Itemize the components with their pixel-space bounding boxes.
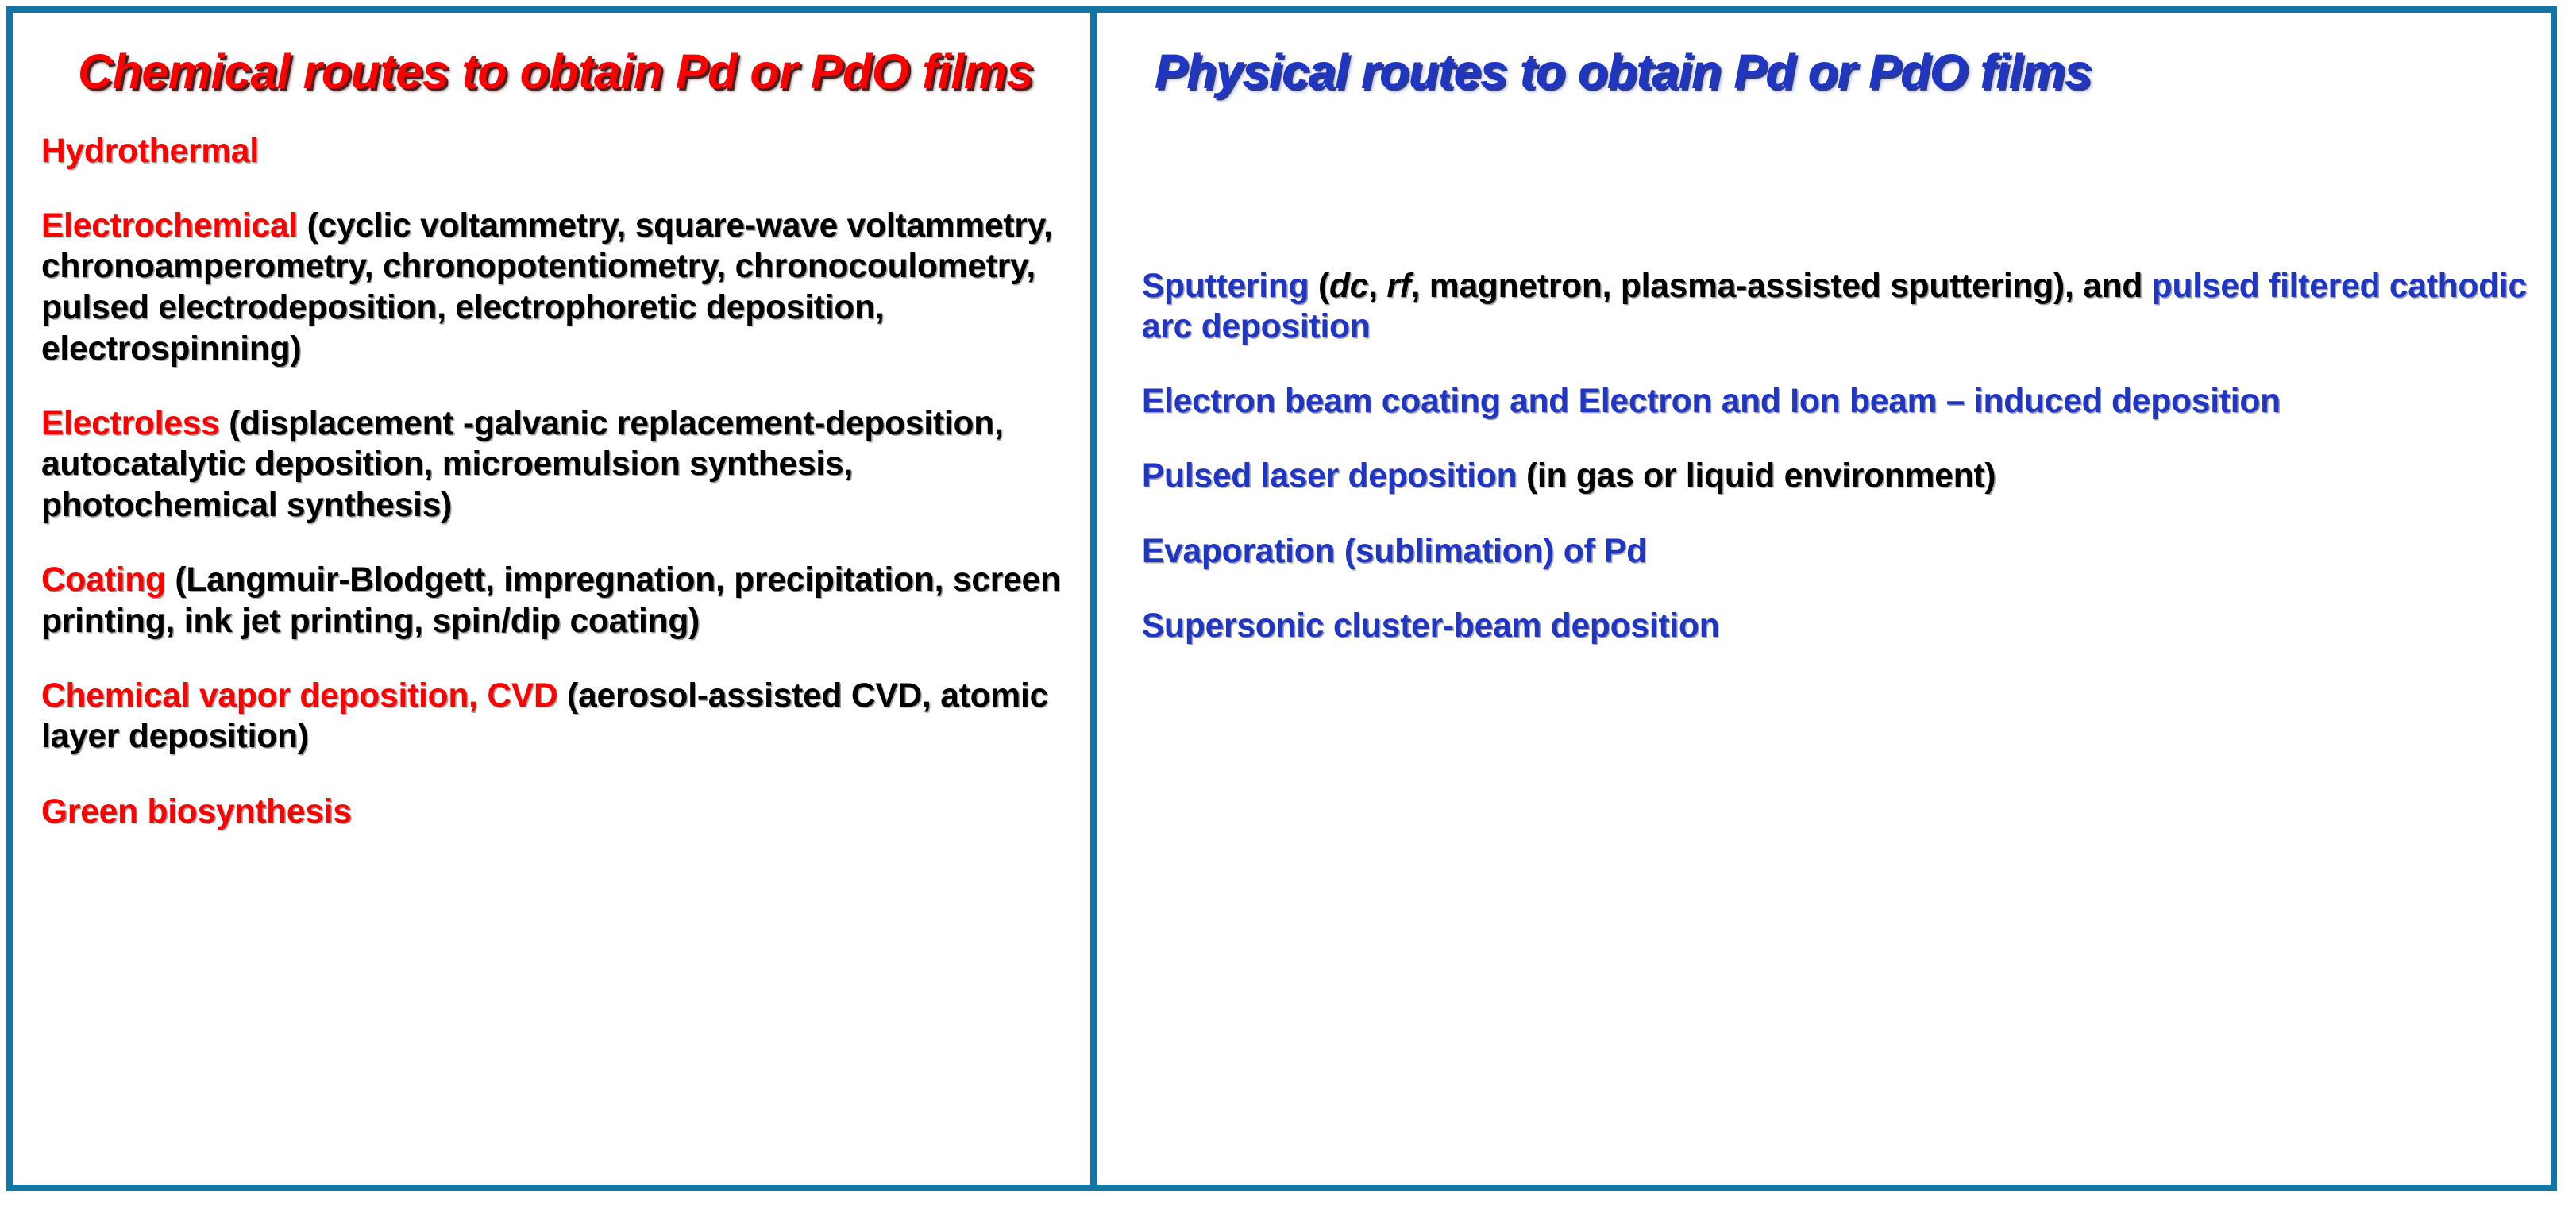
physical-routes-title: Physical routes to obtain Pd or PdO film… [1155, 46, 2528, 97]
entry-chemical-vapor-deposition: Chemical vapor deposition, CVD (aerosol-… [41, 676, 1068, 757]
entry-keyword: Electron beam coating and Electron and I… [1142, 383, 2281, 420]
entry-electrochemical: Electrochemical (cyclic voltammetry, squ… [41, 206, 1068, 370]
entry-sputtering: Sputtering (dc, rf, magnetron, plasma-as… [1142, 266, 2528, 348]
entry-keyword: Hydrothermal [41, 133, 259, 170]
entry-detail: (in gas or liquid environment) [1517, 457, 1996, 495]
entry-italic-dc: dc [1329, 268, 1368, 305]
entry-keyword: Evaporation (sublimation) of Pd [1142, 533, 1647, 570]
entry-keyword: Coating [41, 561, 166, 599]
entry-keyword: Electroless [41, 405, 220, 442]
entry-detail: (Langmuir-Blodgett, impregnation, precip… [41, 561, 1061, 640]
chemical-routes-panel: Chemical routes to obtain Pd or PdO film… [13, 13, 1097, 1185]
entry-green-biosynthesis: Green biosynthesis [41, 792, 1068, 833]
physical-top-spacer [1142, 127, 2528, 232]
slide-frame: Chemical routes to obtain Pd or PdO film… [6, 6, 2557, 1191]
entry-keyword: Supersonic cluster-beam deposition [1142, 607, 1720, 645]
entry-coating: Coating (Langmuir-Blodgett, impregnation… [41, 560, 1068, 642]
physical-routes-panel: Physical routes to obtain Pd or PdO film… [1097, 13, 2551, 1185]
entry-keyword: Pulsed laser deposition [1142, 457, 1517, 495]
entry-keyword: Electrochemical [41, 207, 298, 245]
entry-evaporation: Evaporation (sublimation) of Pd [1142, 531, 2528, 572]
entry-paren-open: ( [1309, 268, 1329, 305]
entry-supersonic-cluster-beam: Supersonic cluster-beam deposition [1142, 606, 2528, 647]
entry-electroless: Electroless (displacement -galvanic repl… [41, 403, 1068, 526]
entry-hydrothermal: Hydrothermal [41, 131, 1068, 172]
chemical-routes-title: Chemical routes to obtain Pd or PdO film… [78, 46, 1068, 97]
entry-pulsed-laser-deposition: Pulsed laser deposition (in gas or liqui… [1142, 456, 2528, 497]
entry-keyword: Sputtering [1142, 268, 1309, 305]
entry-italic-rf: rf [1386, 268, 1410, 305]
entry-keyword: Green biosynthesis [41, 793, 352, 830]
entry-electron-beam: Electron beam coating and Electron and I… [1142, 381, 2528, 422]
entry-keyword: Chemical vapor deposition, CVD [41, 677, 558, 715]
entry-separator: , [1368, 268, 1386, 305]
entry-detail: , magnetron, plasma-assisted sputtering)… [1411, 268, 2152, 305]
